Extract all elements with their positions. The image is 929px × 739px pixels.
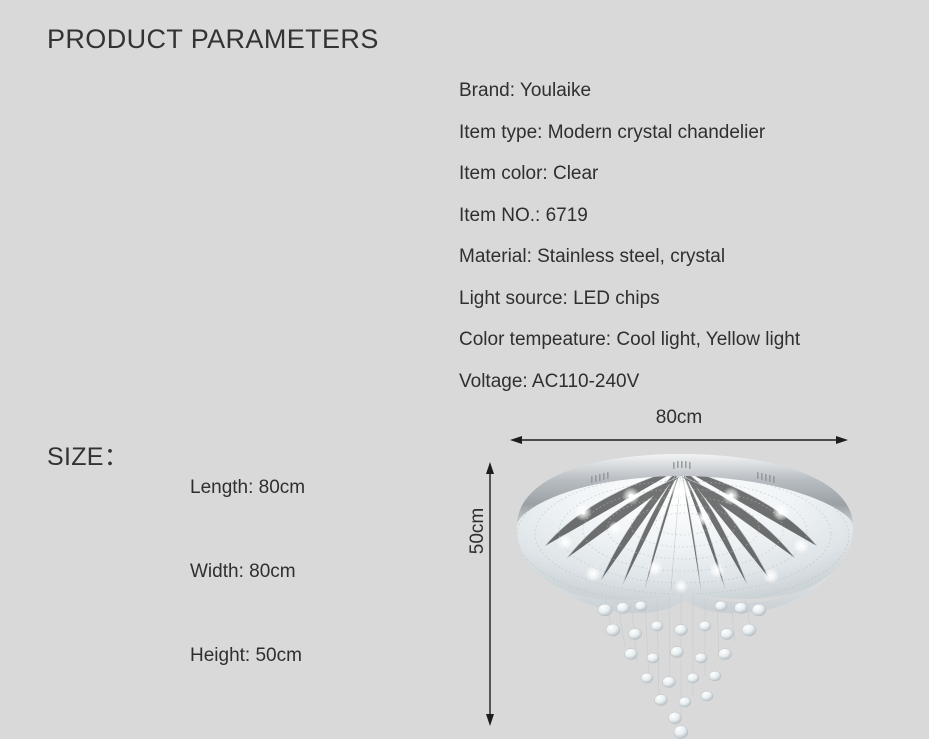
size-height: Height: 50cm xyxy=(190,645,440,729)
spec-color-temperature: Color tempeature: Cool light, Yellow lig… xyxy=(459,319,899,361)
width-dimension-label: 80cm xyxy=(513,407,845,429)
height-dimension-arrow-icon xyxy=(480,460,500,728)
spec-item-color: Item color: Clear xyxy=(459,153,899,195)
spec-voltage: Voltage: AC110-240V xyxy=(459,361,899,403)
product-image-crystal-chandelier xyxy=(505,450,865,739)
page-title: PRODUCT PARAMETERS xyxy=(47,24,379,55)
specification-list: Brand: Youlaike Item type: Modern crysta… xyxy=(459,70,899,402)
product-parameters-page: PRODUCT PARAMETERS Brand: Youlaike Item … xyxy=(0,0,929,739)
spec-brand: Brand: Youlaike xyxy=(459,70,899,112)
size-width: Width: 80cm xyxy=(190,561,440,645)
size-length: Length: 80cm xyxy=(190,477,440,561)
size-list: Length: 80cm Width: 80cm Height: 50cm xyxy=(190,477,440,729)
spec-material: Material: Stainless steel, crystal xyxy=(459,236,899,278)
size-section-title: SIZE： xyxy=(47,437,129,473)
spec-item-type: Item type: Modern crystal chandelier xyxy=(459,112,899,154)
spec-item-number: Item NO.: 6719 xyxy=(459,195,899,237)
spec-light-source: Light source: LED chips xyxy=(459,278,899,320)
width-dimension-arrow-icon xyxy=(508,430,850,450)
